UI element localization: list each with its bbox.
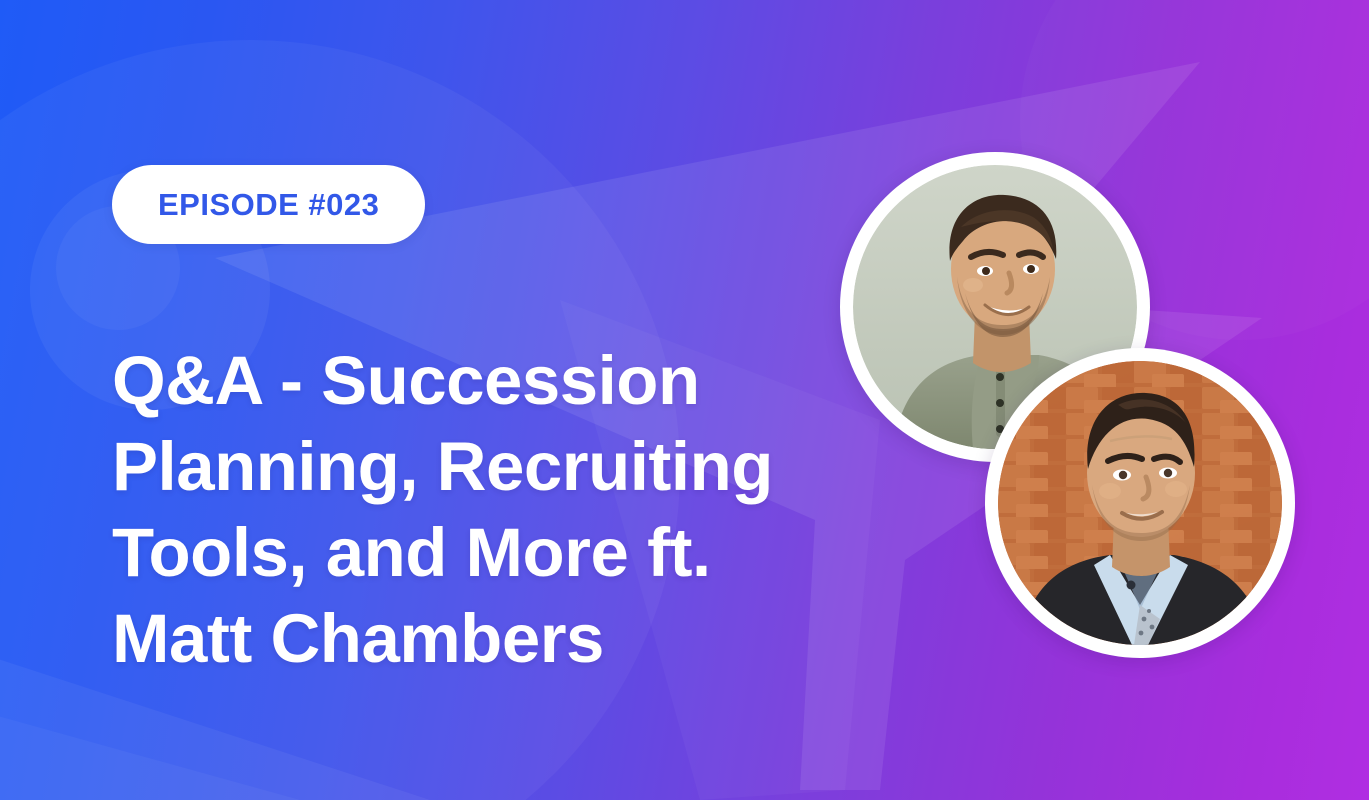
episode-badge: EPISODE #023 xyxy=(112,165,425,244)
podcast-episode-cover: EPISODE #023 Q&A - Succession Planning, … xyxy=(0,0,1369,800)
guest-avatar xyxy=(985,348,1295,658)
guest-avatar-image-frame xyxy=(998,361,1282,645)
guest-photo xyxy=(998,361,1282,645)
episode-badge-label: EPISODE #023 xyxy=(158,189,379,220)
content-column: EPISODE #023 Q&A - Succession Planning, … xyxy=(112,0,872,800)
episode-title: Q&A - Succession Planning, Recruiting To… xyxy=(112,338,802,682)
